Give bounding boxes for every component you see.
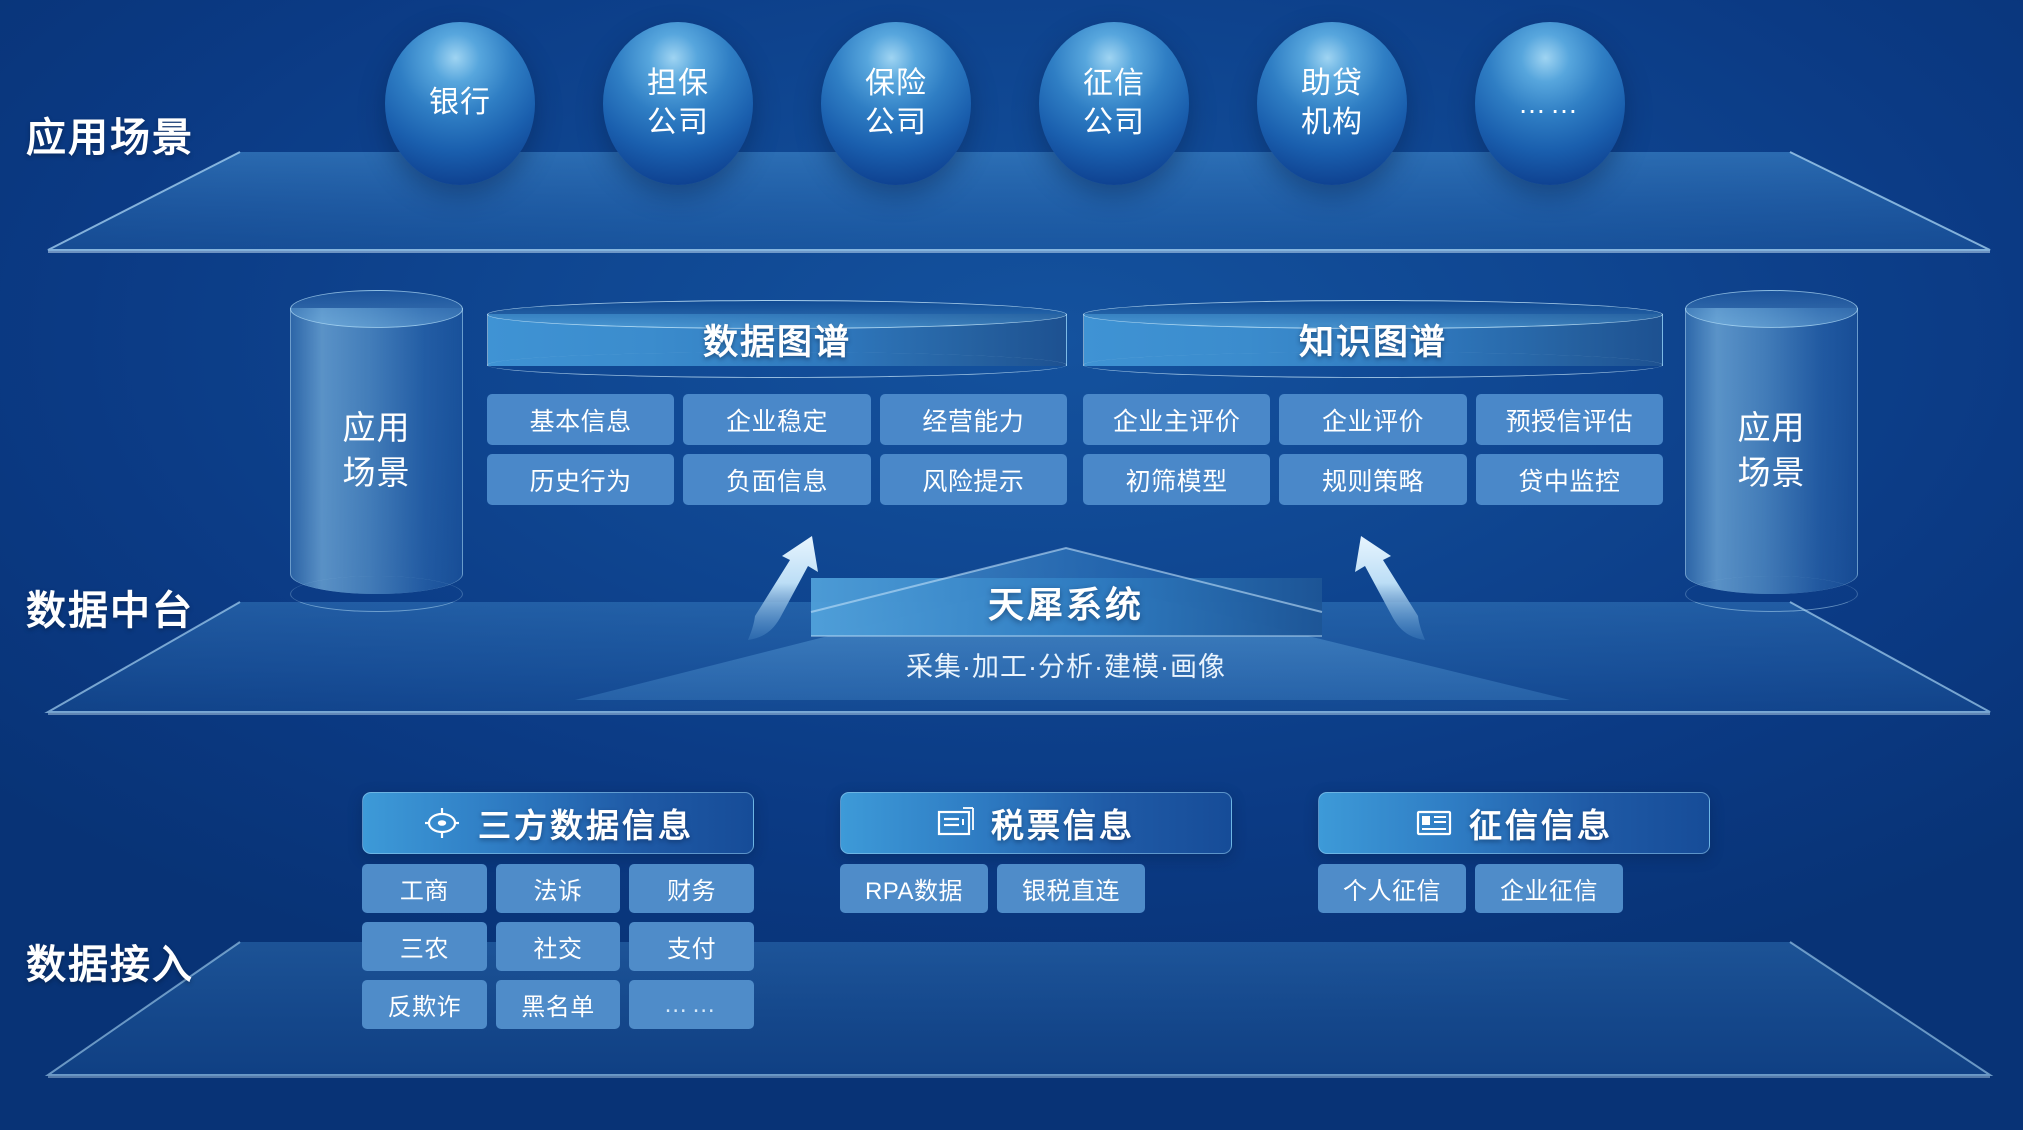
tag-item[interactable]: 经营能力 [880, 394, 1067, 445]
sphere-line1: …… [1518, 86, 1582, 122]
panel-tag-grid: 个人征信 企业征信 [1318, 864, 1623, 913]
panel-tag-item[interactable]: 个人征信 [1318, 864, 1466, 913]
platform-data-access [48, 942, 1990, 1077]
panel-title: 税票信息 [991, 799, 1135, 847]
core-system-subtitle: 采集·加工·分析·建模·画像 [811, 645, 1321, 684]
panel-tag-grid: RPA数据 银税直连 [840, 864, 1145, 913]
tag-item[interactable]: 规则策略 [1279, 454, 1466, 505]
panel-tag-item[interactable]: 工商 [362, 864, 487, 913]
id-card-icon [1415, 806, 1453, 840]
cylinder-left-application-scenario: 应用 场景 [290, 290, 463, 612]
core-system-block: 天犀系统 采集·加工·分析·建模·画像 [811, 545, 1321, 695]
cylinder-bottom-ellipse [1685, 576, 1858, 612]
tag-item[interactable]: 预授信评估 [1476, 394, 1663, 445]
cylinder-top-ellipse [1685, 290, 1858, 328]
cylinder-label-line1: 应用 [343, 406, 411, 451]
section-label-data-center: 数据中台 [26, 578, 194, 636]
panel-header[interactable]: 征信信息 [1318, 792, 1710, 854]
panel-tag-grid: 工商 法诉 财务 三农 社交 支付 反欺诈 黑名单 …… [362, 864, 754, 1029]
tag-item[interactable]: 历史行为 [487, 454, 674, 505]
graph-group-data: 数据图谱 基本信息 企业稳定 经营能力 历史行为 负面信息 风险提示 [487, 300, 1067, 505]
panel-header[interactable]: 税票信息 [840, 792, 1232, 854]
panel-tag-item[interactable]: 银税直连 [997, 864, 1145, 913]
panel-title: 三方数据信息 [478, 799, 694, 847]
tag-item[interactable]: 贷中监控 [1476, 454, 1663, 505]
tag-item[interactable]: 企业主评价 [1083, 394, 1270, 445]
tag-item[interactable]: 风险提示 [880, 454, 1067, 505]
sphere-line1: 征信 [1083, 65, 1145, 103]
sphere-line1: 保险 [865, 65, 927, 103]
drum-data-graph: 数据图谱 [487, 300, 1067, 378]
curved-arrow-up-right-icon [1355, 536, 1425, 640]
drum-title: 数据图谱 [487, 312, 1067, 366]
cylinder-bottom-ellipse [290, 576, 463, 612]
section-label-data-access: 数据接入 [26, 932, 194, 990]
panel-tag-item[interactable]: 法诉 [496, 864, 621, 913]
tag-item[interactable]: 负面信息 [683, 454, 870, 505]
sphere-line1: 担保 [647, 65, 709, 103]
cylinder-top-ellipse [290, 290, 463, 328]
tag-item[interactable]: 基本信息 [487, 394, 674, 445]
cylinder-label-line2: 场景 [343, 451, 411, 496]
sphere-line2: 公司 [647, 104, 709, 142]
panel-header[interactable]: 三方数据信息 [362, 792, 754, 854]
data-access-panel-tax-invoice: 税票信息 RPA数据 银税直连 [840, 792, 1232, 913]
drum-knowledge-graph: 知识图谱 [1083, 300, 1663, 378]
section-label-application: 应用场景 [26, 105, 194, 163]
panel-tag-item[interactable]: 反欺诈 [362, 980, 487, 1029]
sphere-line2: 公司 [1083, 104, 1145, 142]
scenario-sphere-guarantee[interactable]: 担保 公司 [603, 22, 753, 185]
panel-tag-item[interactable]: 三农 [362, 922, 487, 971]
sphere-line1: 银行 [429, 84, 491, 122]
panel-tag-item[interactable]: 企业征信 [1475, 864, 1623, 913]
data-graph-tag-grid: 基本信息 企业稳定 经营能力 历史行为 负面信息 风险提示 [487, 394, 1067, 505]
panel-tag-item[interactable]: 支付 [629, 922, 754, 971]
data-access-panel-third-party: 三方数据信息 工商 法诉 财务 三农 社交 支付 反欺诈 黑名单 …… [362, 792, 754, 1029]
scenario-sphere-bank[interactable]: 银行 [385, 22, 535, 185]
cylinder-label-line2: 场景 [1738, 451, 1806, 496]
architecture-diagram: 应用场景 数据中台 数据接入 银行 担保 公司 保险 公司 征信 公司 [0, 0, 2023, 1130]
scenario-sphere-loan-facilitator[interactable]: 助贷 机构 [1257, 22, 1407, 185]
panel-tag-item[interactable]: RPA数据 [840, 864, 988, 913]
sphere-line1: 助贷 [1301, 65, 1363, 103]
sphere-line2: 机构 [1301, 104, 1363, 142]
invoice-icon [937, 806, 975, 840]
panel-tag-item-more[interactable]: …… [629, 980, 754, 1029]
scenario-sphere-insurance[interactable]: 保险 公司 [821, 22, 971, 185]
panel-title: 征信信息 [1469, 799, 1613, 847]
drum-title: 知识图谱 [1083, 312, 1663, 366]
application-scenario-spheres: 银行 担保 公司 保险 公司 征信 公司 助贷 机构 [385, 22, 1625, 187]
target-crosshair-icon [422, 805, 462, 841]
scenario-sphere-more[interactable]: …… [1475, 22, 1625, 185]
graph-group-knowledge: 知识图谱 企业主评价 企业评价 预授信评估 初筛模型 规则策略 贷中监控 [1083, 300, 1663, 505]
tag-item[interactable]: 企业稳定 [683, 394, 870, 445]
panel-tag-item[interactable]: 黑名单 [496, 980, 621, 1029]
tag-item[interactable]: 企业评价 [1279, 394, 1466, 445]
sphere-line2: 公司 [865, 104, 927, 142]
knowledge-graph-tag-grid: 企业主评价 企业评价 预授信评估 初筛模型 规则策略 贷中监控 [1083, 394, 1663, 505]
cylinder-label-line1: 应用 [1738, 406, 1806, 451]
tag-item[interactable]: 初筛模型 [1083, 454, 1270, 505]
scenario-sphere-credit-bureau[interactable]: 征信 公司 [1039, 22, 1189, 185]
core-system-title: 天犀系统 [811, 571, 1321, 633]
cylinder-right-application-scenario: 应用 场景 [1685, 290, 1858, 612]
data-access-panel-credit-report: 征信信息 个人征信 企业征信 [1318, 792, 1710, 913]
curved-arrow-up-left-icon [748, 536, 818, 640]
panel-tag-item[interactable]: 社交 [496, 922, 621, 971]
panel-tag-item[interactable]: 财务 [629, 864, 754, 913]
